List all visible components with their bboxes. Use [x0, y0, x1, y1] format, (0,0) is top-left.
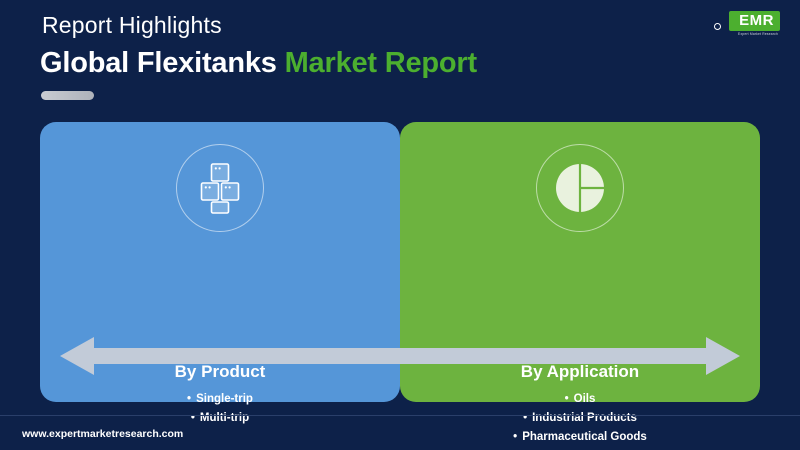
double-headed-arrow-icon	[60, 335, 740, 377]
list-item: Industrial Products	[400, 409, 760, 428]
list-item: Oils	[400, 390, 760, 409]
title-underline-bar	[41, 91, 94, 100]
list-item: Multi-trip	[40, 409, 400, 428]
card-bullets-by-product: Single-trip Multi-trip	[40, 390, 400, 428]
logo-tagline: Expert Market Research	[738, 32, 778, 36]
page-title: Global Flexitanks Market Report	[40, 47, 477, 80]
circle-dot-icon	[714, 23, 721, 30]
footer-website-url[interactable]: www.expertmarketresearch.com	[22, 428, 183, 440]
page-title-accent: Market Report	[285, 47, 477, 79]
footer-divider	[0, 415, 800, 416]
slide-root: Report Highlights Global Flexitanks Mark…	[0, 0, 800, 450]
stacked-boxes-icon	[176, 144, 264, 232]
list-item: Single-trip	[40, 390, 400, 409]
pie-chart-icon	[536, 144, 624, 232]
page-title-main: Global Flexitanks	[40, 47, 285, 79]
list-item: Pharmaceutical Goods	[400, 428, 760, 447]
card-bullets-by-application: Oils Industrial Products Pharmaceutical …	[400, 390, 760, 447]
logo-text: EMR	[729, 11, 780, 31]
emr-logo[interactable]: EMR Expert Market Research	[712, 11, 780, 41]
header-subtitle: Report Highlights	[42, 12, 222, 39]
